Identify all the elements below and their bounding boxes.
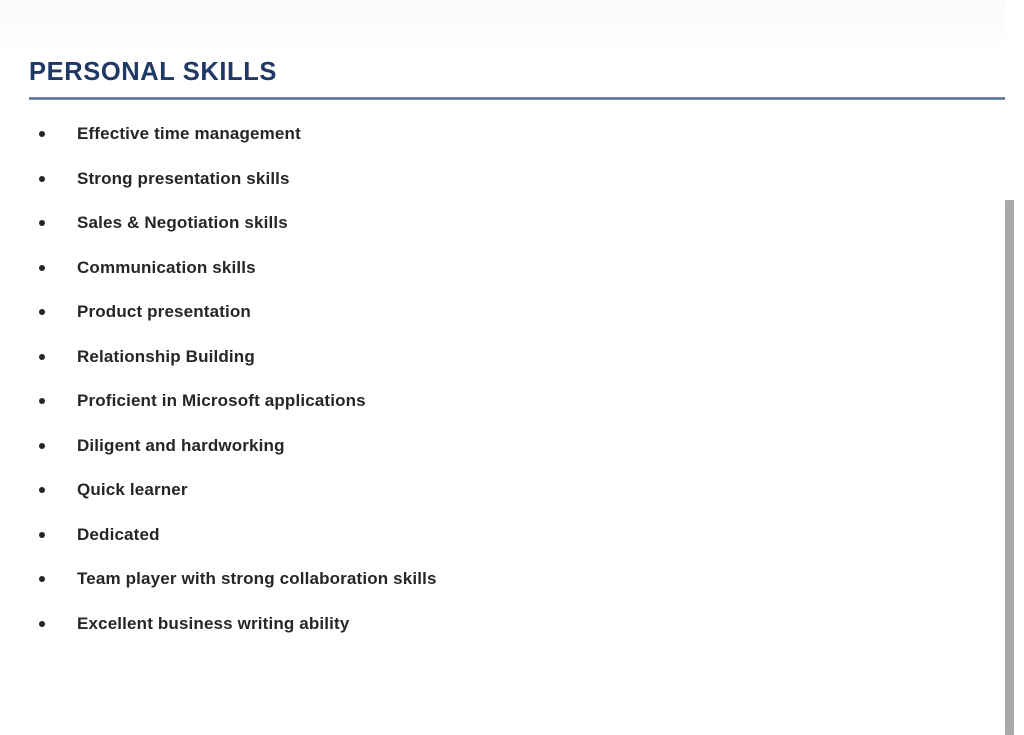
list-item: Effective time management — [0, 112, 1024, 157]
bullet-icon — [39, 220, 45, 226]
list-item-label: Strong presentation skills — [77, 169, 290, 189]
vertical-scrollbar-track[interactable] — [1005, 0, 1024, 735]
document-page: PERSONAL SKILLS Effective time managemen… — [0, 0, 1024, 735]
bullet-icon — [39, 265, 45, 271]
list-item-label: Quick learner — [77, 480, 188, 500]
list-item: Sales & Negotiation skills — [0, 201, 1024, 246]
bullet-icon — [39, 176, 45, 182]
bullet-icon — [39, 398, 45, 404]
bullet-icon — [39, 576, 45, 582]
list-item-label: Relationship Building — [77, 347, 255, 367]
personal-skills-section: PERSONAL SKILLS — [29, 56, 1024, 88]
page-title: PERSONAL SKILLS — [29, 56, 1024, 88]
bullet-icon — [39, 131, 45, 137]
list-item: Quick learner — [0, 468, 1024, 513]
list-item-label: Sales & Negotiation skills — [77, 213, 288, 233]
section-divider — [29, 97, 1024, 100]
list-item: Diligent and hardworking — [0, 424, 1024, 469]
bullet-icon — [39, 532, 45, 538]
list-item: Product presentation — [0, 290, 1024, 335]
bullet-icon — [39, 309, 45, 315]
page-top-tint — [0, 0, 1024, 52]
bullet-icon — [39, 487, 45, 493]
list-item-label: Product presentation — [77, 302, 251, 322]
vertical-scrollbar-thumb[interactable] — [1005, 200, 1014, 735]
list-item-label: Effective time management — [77, 124, 301, 144]
list-item: Dedicated — [0, 513, 1024, 558]
skills-list: Effective time management Strong present… — [0, 112, 1024, 646]
list-item-label: Dedicated — [77, 525, 160, 545]
bullet-icon — [39, 621, 45, 627]
list-item-label: Diligent and hardworking — [77, 436, 285, 456]
list-item: Team player with strong collaboration sk… — [0, 557, 1024, 602]
list-item: Relationship Building — [0, 335, 1024, 380]
bullet-icon — [39, 443, 45, 449]
list-item: Strong presentation skills — [0, 157, 1024, 202]
list-item-label: Excellent business writing ability — [77, 614, 349, 634]
list-item-label: Communication skills — [77, 258, 256, 278]
list-item-label: Proficient in Microsoft applications — [77, 391, 366, 411]
list-item-label: Team player with strong collaboration sk… — [77, 569, 437, 589]
list-item: Proficient in Microsoft applications — [0, 379, 1024, 424]
list-item: Communication skills — [0, 246, 1024, 291]
list-item: Excellent business writing ability — [0, 602, 1024, 647]
bullet-icon — [39, 354, 45, 360]
